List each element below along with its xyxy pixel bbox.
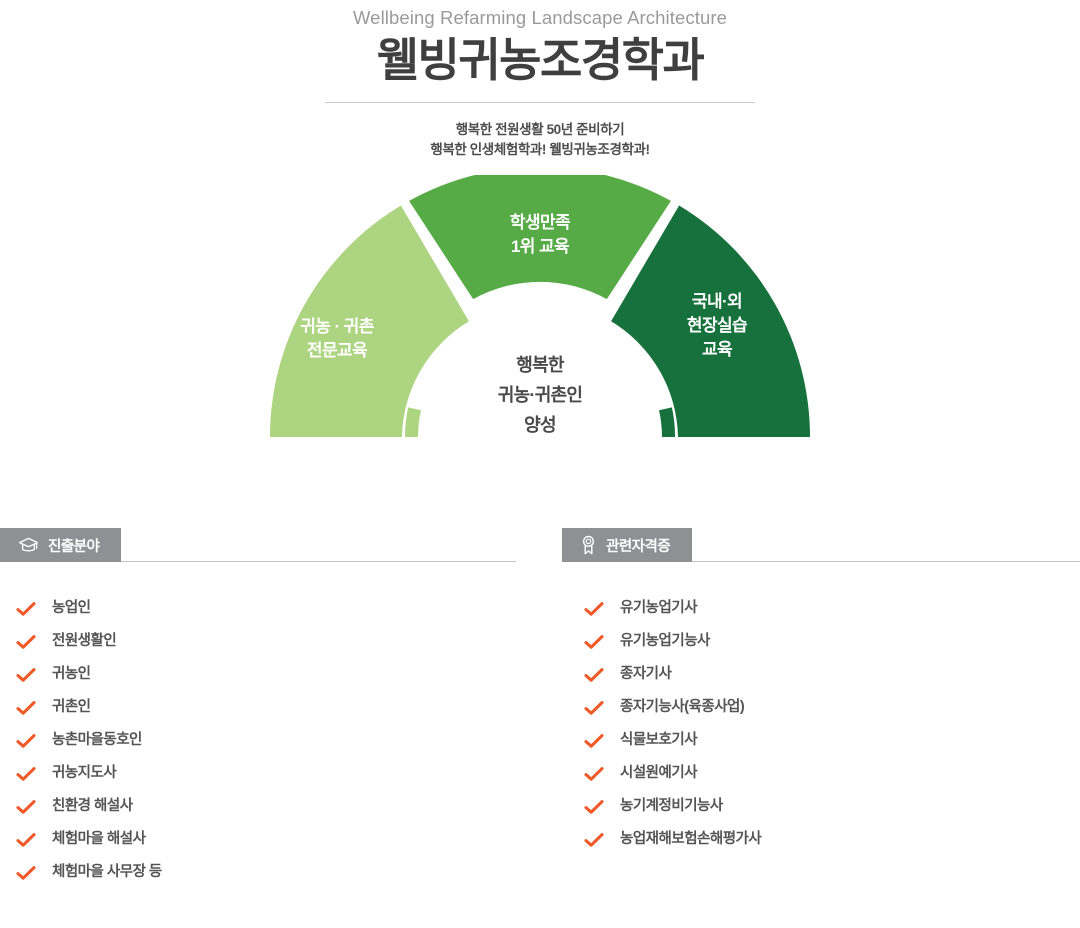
list-item: 귀농지도사 xyxy=(0,757,516,790)
arc-segment-middle-label-2: 1위 교육 xyxy=(511,237,570,256)
arc-segment-left-label-2: 전문교육 xyxy=(307,341,368,360)
certificates-header-rule xyxy=(692,528,1080,561)
medal-ribbon-icon xyxy=(580,535,597,555)
arc-core-line-1: 행복한 xyxy=(516,355,565,375)
list-item-label: 농기계정비기능사 xyxy=(620,799,723,814)
list-item: 귀촌인 xyxy=(0,691,516,724)
check-icon xyxy=(584,667,604,683)
check-icon xyxy=(16,733,36,749)
check-icon xyxy=(16,832,36,848)
info-columns: 진출분야 농업인 전원생활인 귀농인 xyxy=(0,528,1080,889)
list-item: 농업인 xyxy=(0,592,516,625)
graduation-cap-icon xyxy=(18,537,39,554)
check-icon xyxy=(16,700,36,716)
list-item: 농기계정비기능사 xyxy=(562,790,1080,823)
list-item-label: 종자기사 xyxy=(620,667,671,682)
list-item-label: 체험마을 해설사 xyxy=(52,832,145,847)
check-icon xyxy=(16,667,36,683)
certificates-header: 관련자격증 xyxy=(562,528,1080,562)
list-item: 종자기사 xyxy=(562,658,1080,691)
list-item-label: 식물보호기사 xyxy=(620,733,697,748)
list-item-label: 체험마을 사무장 등 xyxy=(52,865,162,880)
arc-segment-right-ring xyxy=(659,408,675,438)
arc-segment-left-ring xyxy=(405,408,421,438)
list-item-label: 친환경 해설사 xyxy=(52,799,133,814)
list-item: 유기농업기능사 xyxy=(562,625,1080,658)
career-fields-header-rule xyxy=(121,528,516,561)
list-item-label: 농촌마을동호인 xyxy=(52,733,142,748)
list-item: 시설원예기사 xyxy=(562,757,1080,790)
list-item: 식물보호기사 xyxy=(562,724,1080,757)
arc-segment-left-label-1: 귀농 · 귀촌 xyxy=(300,317,374,336)
list-item: 종자기능사(육종사업) xyxy=(562,691,1080,724)
career-fields-section: 진출분야 농업인 전원생활인 귀농인 xyxy=(0,528,540,889)
check-icon xyxy=(584,832,604,848)
check-icon xyxy=(584,799,604,815)
vision-arc-diagram: 귀농 · 귀촌 전문교육 학생만족 1위 교육 국내·외 현장실습 교육 행복한… xyxy=(0,175,1080,465)
career-fields-header: 진출분야 xyxy=(0,528,516,562)
list-item: 농업재해보험손해평가사 xyxy=(562,823,1080,856)
arc-segment-middle-label-1: 학생만족 xyxy=(510,213,571,232)
check-icon xyxy=(584,601,604,617)
arc-core-line-3: 양성 xyxy=(524,415,556,435)
arc-core: 행복한 귀농·귀촌인 양성 xyxy=(498,355,583,435)
list-item-label: 종자기능사(육종사업) xyxy=(620,700,744,715)
arc-segment-middle: 학생만족 1위 교육 xyxy=(409,175,671,299)
title-divider xyxy=(325,102,755,103)
certificates-title: 관련자격증 xyxy=(606,535,670,556)
check-icon xyxy=(584,733,604,749)
arc-core-line-2: 귀농·귀촌인 xyxy=(498,385,583,405)
list-item-label: 농업인 xyxy=(52,601,91,616)
list-item: 유기농업기사 xyxy=(562,592,1080,625)
list-item-label: 전원생활인 xyxy=(52,634,116,649)
check-icon xyxy=(584,634,604,650)
certificates-section: 관련자격증 유기농업기사 유기농업기능사 종자기사 xyxy=(540,528,1080,889)
career-fields-badge: 진출분야 xyxy=(0,528,121,562)
list-item-label: 귀농인 xyxy=(52,667,91,682)
page-title: 웰빙귀농조경학과 xyxy=(0,32,1080,90)
check-icon xyxy=(16,865,36,881)
english-subtitle: Wellbeing Refarming Landscape Architectu… xyxy=(0,6,1080,30)
list-item-label: 귀농지도사 xyxy=(52,766,116,781)
arc-segment-right-label-3: 교육 xyxy=(702,340,733,359)
check-icon xyxy=(16,766,36,782)
list-item: 농촌마을동호인 xyxy=(0,724,516,757)
career-fields-list: 농업인 전원생활인 귀농인 귀촌인 xyxy=(0,562,516,889)
check-icon xyxy=(16,601,36,617)
list-item: 친환경 해설사 xyxy=(0,790,516,823)
subtitle-line-1: 행복한 전원생활 50년 준비하기 xyxy=(456,122,625,137)
check-icon xyxy=(584,700,604,716)
list-item-label: 유기농업기사 xyxy=(620,601,697,616)
page-header: Wellbeing Refarming Landscape Architectu… xyxy=(0,0,1080,161)
arc-diagram-svg: 귀농 · 귀촌 전문교육 학생만족 1위 교육 국내·외 현장실습 교육 행복한… xyxy=(240,175,840,465)
list-item: 전원생활인 xyxy=(0,625,516,658)
certificates-badge: 관련자격증 xyxy=(562,528,692,562)
check-icon xyxy=(16,799,36,815)
list-item: 체험마을 해설사 xyxy=(0,823,516,856)
list-item: 체험마을 사무장 등 xyxy=(0,856,516,889)
arc-segment-right-label-2: 현장실습 xyxy=(687,316,748,335)
certificates-list: 유기농업기사 유기농업기능사 종자기사 종자기능사(육종사업) xyxy=(562,562,1080,856)
page-subtitle: 행복한 전원생활 50년 준비하기 행복한 인생체험학과! 웰빙귀농조경학과! xyxy=(0,120,1080,162)
check-icon xyxy=(584,766,604,782)
list-item-label: 귀촌인 xyxy=(52,700,91,715)
list-item-label: 시설원예기사 xyxy=(620,766,697,781)
list-item: 귀농인 xyxy=(0,658,516,691)
check-icon xyxy=(16,634,36,650)
arc-segment-right-label-1: 국내·외 xyxy=(692,292,742,311)
subtitle-line-2: 행복한 인생체험학과! 웰빙귀농조경학과! xyxy=(430,142,649,157)
list-item-label: 유기농업기능사 xyxy=(620,634,710,649)
list-item-label: 농업재해보험손해평가사 xyxy=(620,832,761,847)
career-fields-title: 진출분야 xyxy=(48,535,99,556)
